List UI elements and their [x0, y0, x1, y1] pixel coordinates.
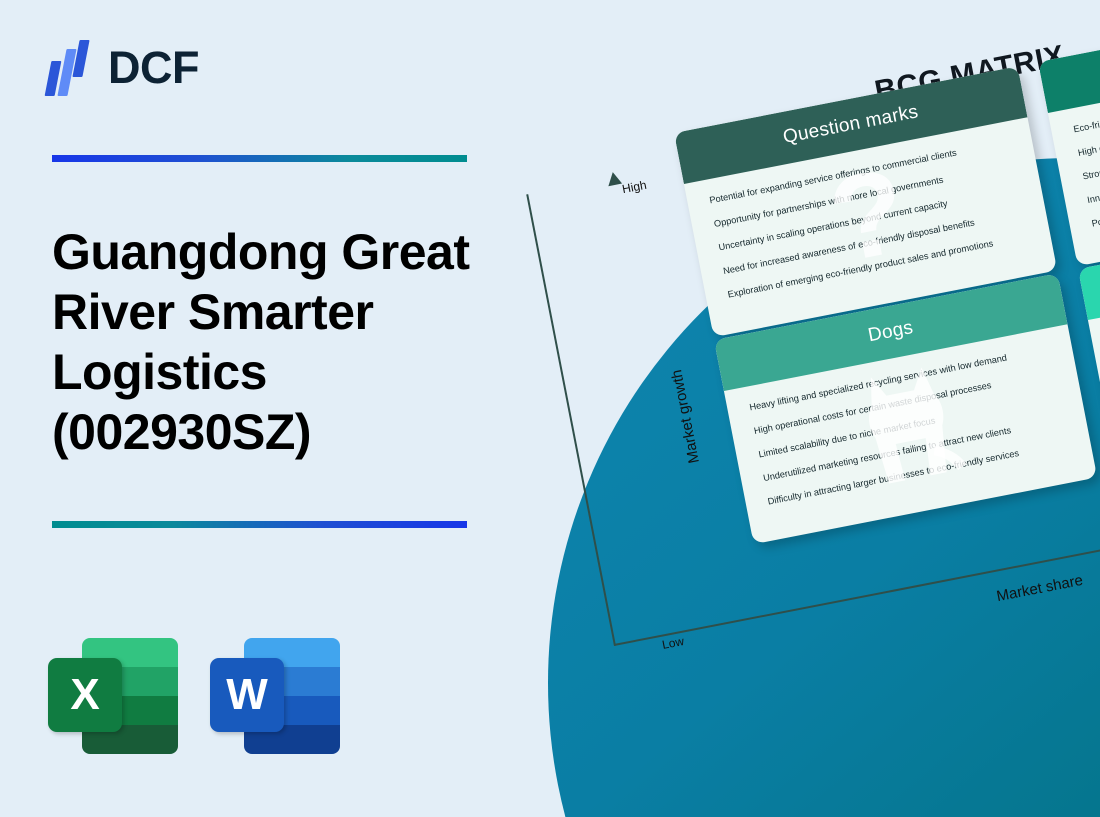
y-axis-label: Market growth: [668, 368, 703, 465]
page-title: Guangdong Great River Smarter Logistics …: [52, 222, 532, 462]
excel-letter: X: [48, 658, 122, 732]
word-file-icon[interactable]: W: [210, 630, 340, 760]
excel-file-icon[interactable]: X: [48, 630, 178, 760]
word-letter: W: [210, 658, 284, 732]
brand-logo[interactable]: DCF: [48, 40, 199, 96]
y-axis-arrow-icon: [606, 171, 622, 186]
slide-canvas: DCF Guangdong Great River Smarter Logist…: [0, 0, 1100, 817]
left-panel: DCF Guangdong Great River Smarter Logist…: [0, 0, 548, 817]
divider-bottom: [52, 521, 467, 528]
y-axis-high-label: High: [621, 178, 648, 196]
x-axis-label: Market share: [995, 572, 1084, 605]
brand-logo-text: DCF: [108, 42, 199, 94]
bcg-matrix: BCG MATRIX High Low Market growth Market…: [604, 58, 1100, 618]
bar-chart-logo-icon: [48, 40, 94, 96]
divider-top: [52, 155, 467, 162]
file-format-icons: X W: [48, 630, 340, 760]
